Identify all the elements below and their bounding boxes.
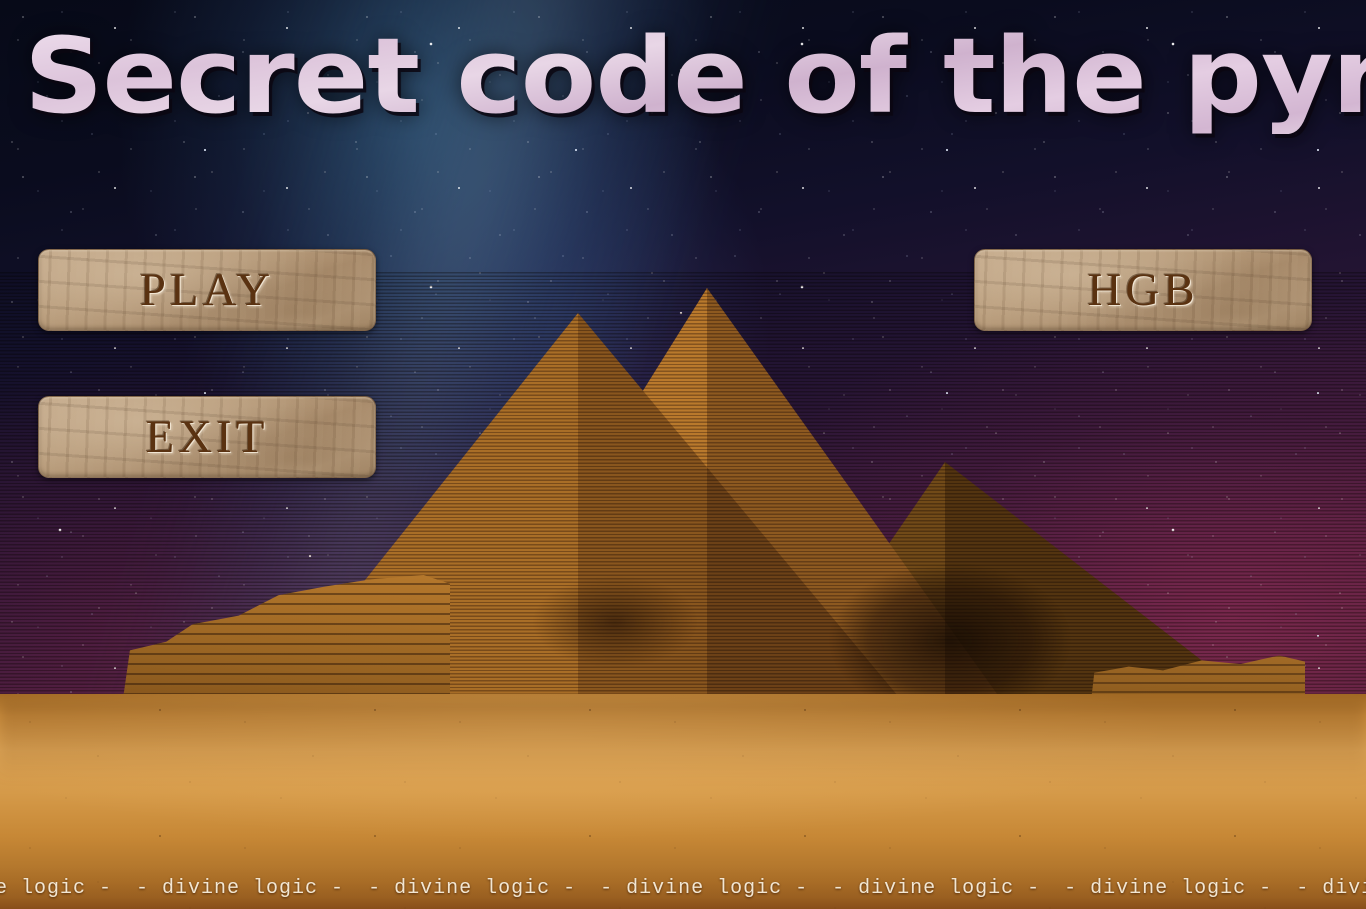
- footer-ticker: - divine logic -- divine logic -- divine…: [0, 867, 1366, 909]
- hgb-button[interactable]: HGB: [974, 249, 1312, 331]
- game-title: Secret code of the pyramids: [24, 18, 1366, 134]
- play-button[interactable]: PLAY: [38, 249, 376, 331]
- hgb-button-label: HGB: [1087, 263, 1198, 317]
- ticker-item: - divine logic -: [1296, 877, 1366, 900]
- ticker-item: - divine logic -: [0, 877, 136, 900]
- exit-button-label: EXIT: [145, 410, 268, 464]
- ticker-track: - divine logic -- divine logic -- divine…: [0, 877, 1366, 900]
- game-main-menu-screen: Secret code of the pyramids PLAY EXIT HG…: [0, 0, 1366, 909]
- ticker-item: - divine logic -: [832, 877, 1064, 900]
- ticker-item: - divine logic -: [600, 877, 832, 900]
- ticker-item: - divine logic -: [136, 877, 368, 900]
- play-button-label: PLAY: [140, 263, 274, 317]
- ticker-item: - divine logic -: [1064, 877, 1296, 900]
- exit-button[interactable]: EXIT: [38, 396, 376, 478]
- ticker-item: - divine logic -: [368, 877, 600, 900]
